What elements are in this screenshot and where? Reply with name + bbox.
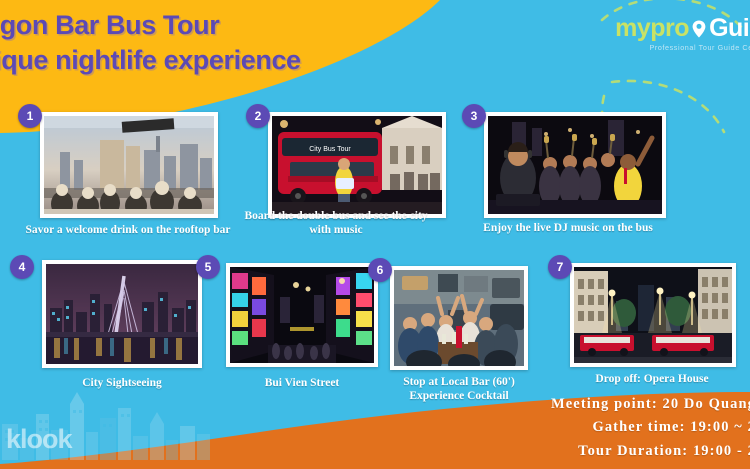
step-photo-3[interactable] [484, 112, 666, 218]
step-photo-6[interactable] [390, 266, 528, 370]
poster-canvas: mypro Guid Professional Tour Guide Cent … [0, 0, 750, 469]
brand-logo[interactable]: mypro Guid Professional Tour Guide Cent [615, 16, 750, 51]
logo-tagline: Professional Tour Guide Cent [615, 44, 750, 51]
step-badge-6: 6 [368, 258, 392, 282]
klook-watermark: klook [6, 424, 72, 455]
logo-text-mypro: mypro [615, 14, 689, 42]
logo-wordmark: mypro Guid [615, 16, 750, 41]
tour-duration-text: Tour Duration: 19:00 - 2 [551, 440, 750, 463]
step-photo-4[interactable] [42, 260, 202, 368]
logo-text-guide: Guid [709, 14, 750, 42]
page-title: aigon Bar Bus Tour nique nightlife exper… [0, 8, 408, 77]
local-bar-image [394, 270, 524, 366]
headline-line-2: nique nightlife experience [0, 43, 408, 78]
city-sightseeing-image [46, 264, 198, 364]
step-photo-2[interactable]: City Bus Tour [268, 112, 446, 218]
step-badge-3: 3 [462, 104, 486, 128]
step-photo-5[interactable] [226, 263, 378, 367]
meeting-point-text: Meeting point: 20 Do Quang [551, 393, 750, 416]
step-caption-5: Bui Vien Street [220, 377, 384, 391]
step-caption-6: Stop at Local Bar (60') Experience Cockt… [380, 376, 538, 404]
bui-vien-street-image [230, 267, 374, 363]
step-badge-4: 4 [10, 255, 34, 279]
step-badge-7: 7 [548, 255, 572, 279]
step-photo-1[interactable] [40, 112, 218, 218]
step-badge-1: 1 [18, 104, 42, 128]
map-pin-icon [689, 19, 709, 39]
step-caption-1: Savor a welcome drink on the rooftop bar [18, 224, 238, 238]
step-badge-2: 2 [246, 104, 270, 128]
step-caption-4: City Sightseeing [44, 377, 200, 391]
step-photo-7[interactable] [570, 263, 736, 367]
dj-party-bus-image [488, 116, 662, 214]
rooftop-bar-image [44, 116, 214, 214]
opera-house-dropoff-image [574, 267, 732, 363]
step-caption-3: Enjoy the live DJ music on the bus [468, 222, 668, 236]
tour-info-footer: Meeting point: 20 Do Quang Gather time: … [551, 393, 750, 463]
double-decker-bus-image: City Bus Tour [272, 116, 442, 214]
step-badge-5: 5 [196, 255, 220, 279]
svg-text:City Bus Tour: City Bus Tour [309, 146, 351, 153]
gather-time-text: Gather time: 19:00 ~ 2 [551, 416, 750, 439]
headline-line-1: aigon Bar Bus Tour [0, 8, 408, 43]
step-caption-2: Board the double bus and see the city wi… [236, 210, 436, 238]
step-caption-7: Drop off: Opera House [554, 373, 750, 387]
